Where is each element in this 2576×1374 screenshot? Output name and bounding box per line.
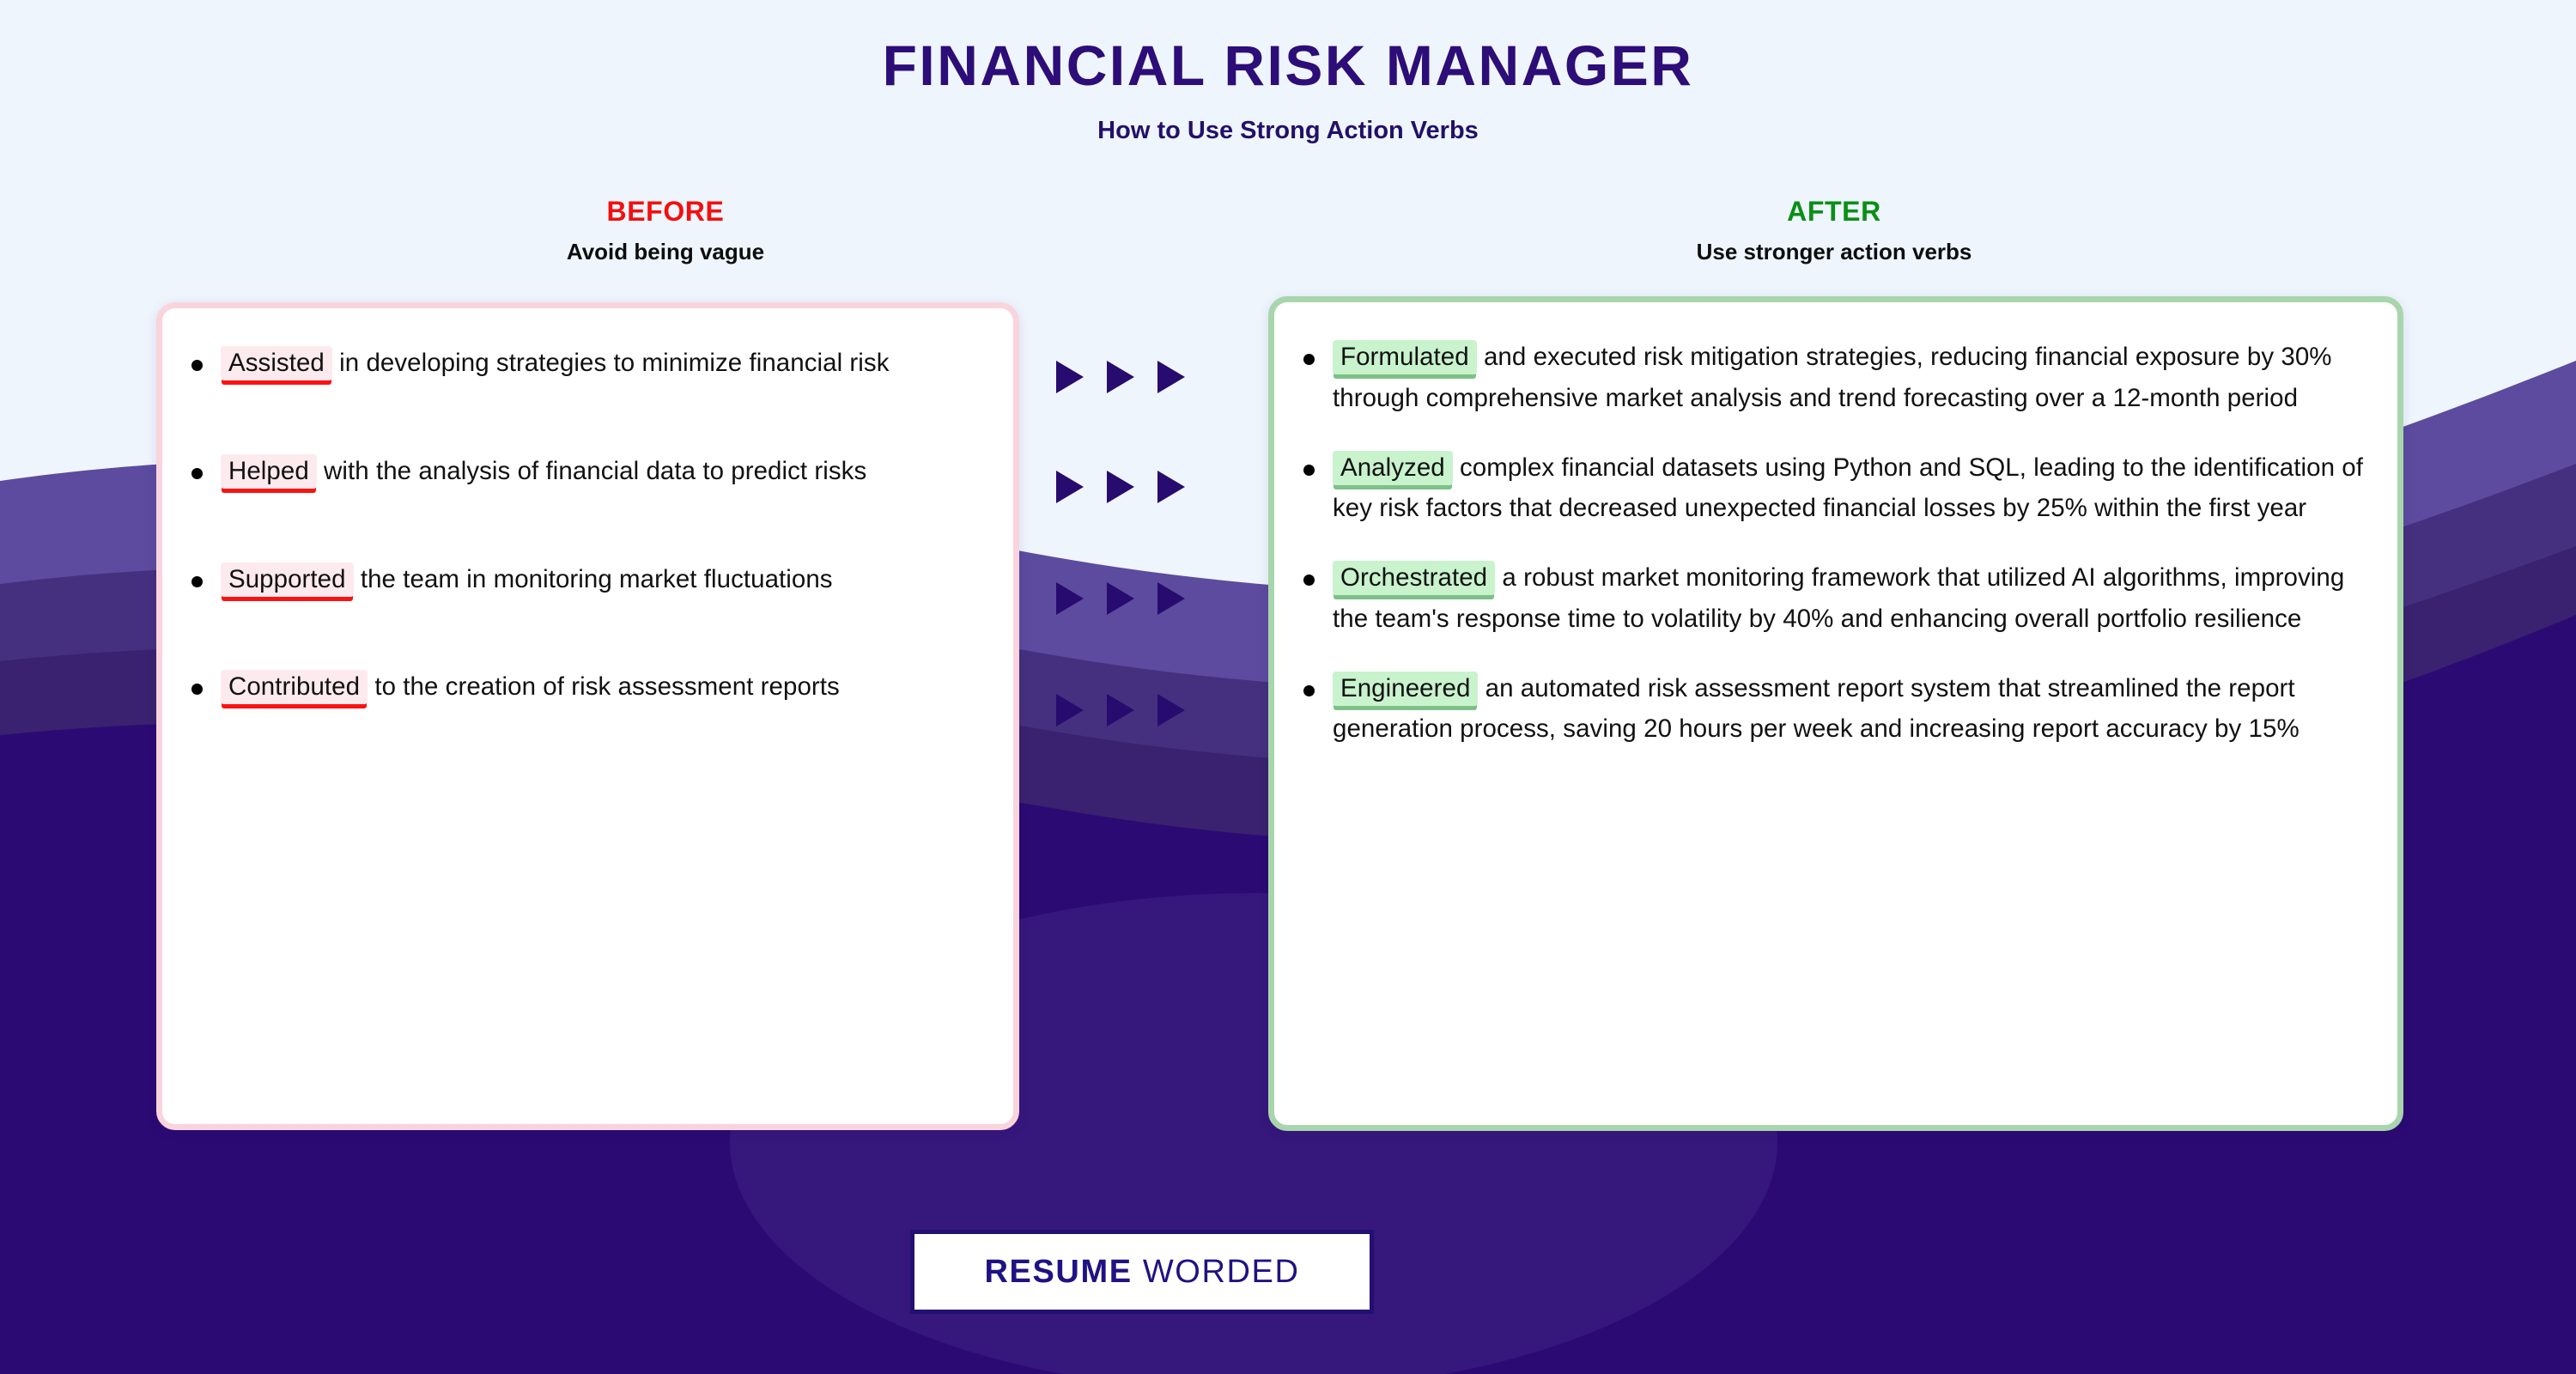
arrow-row (1056, 694, 1185, 727)
after-card: Formulated and executed risk mitigation … (1268, 296, 2403, 1131)
bullet-rest-text: and executed risk mitigation strategies,… (1333, 343, 2332, 412)
bullet-rest-text: to the creation of risk assessment repor… (368, 672, 840, 701)
after-label: AFTER (1267, 196, 2401, 228)
after-sublabel: Use stronger action verbs (1267, 239, 2401, 265)
bullet-dot-icon (191, 576, 203, 587)
action-verb-highlight: Contributed (221, 670, 368, 704)
triangle-right-icon (1157, 694, 1185, 727)
page-subtitle: How to Use Strong Action Verbs (0, 117, 2576, 145)
resume-worded-logo[interactable]: RESUME WORDED (910, 1230, 1374, 1314)
action-verb-highlight: Analyzed (1333, 451, 1453, 485)
bullet-text: Orchestrated a robust market monitoring … (1333, 557, 2368, 640)
bullet-dot-icon (1303, 575, 1315, 586)
bullet-dot-icon (1303, 354, 1315, 365)
arrow-row (1056, 361, 1185, 393)
bullet-dot-icon (191, 468, 203, 479)
after-bullet-list: Formulated and executed risk mitigation … (1274, 302, 2397, 750)
bullet-text: Analyzed complex financial datasets usin… (1333, 447, 2368, 530)
logo-word-resume: RESUME (984, 1254, 1132, 1290)
action-verb-highlight: Supported (221, 562, 354, 597)
triangle-right-icon (1157, 471, 1185, 503)
before-bullet-list: Assisted in developing strategies to min… (162, 308, 1013, 708)
action-verb-highlight: Assisted (221, 346, 332, 380)
arrow-row (1056, 471, 1185, 503)
bullet-dot-icon (1303, 685, 1315, 696)
list-item: Supported the team in monitoring market … (191, 559, 984, 600)
bullet-text: Engineered an automated risk assessment … (1333, 668, 2368, 751)
action-verb-highlight: Orchestrated (1333, 561, 1495, 595)
after-column-heading: AFTER Use stronger action verbs (1267, 196, 2401, 265)
logo-word-worded: WORDED (1143, 1254, 1300, 1290)
bullet-text: Formulated and executed risk mitigation … (1333, 337, 2368, 419)
list-item: Assisted in developing strategies to min… (191, 343, 984, 384)
list-item: Analyzed complex financial datasets usin… (1303, 447, 2368, 530)
triangle-right-icon (1107, 694, 1134, 727)
arrow-row (1056, 582, 1185, 615)
before-sublabel: Avoid being vague (155, 239, 1176, 265)
before-column-heading: BEFORE Avoid being vague (155, 196, 1176, 265)
triangle-right-icon (1107, 582, 1134, 615)
triangle-right-icon (1157, 361, 1185, 393)
list-item: Helped with the analysis of financial da… (191, 451, 984, 492)
bullet-dot-icon (191, 684, 203, 695)
triangle-right-icon (1107, 361, 1134, 393)
bullet-dot-icon (191, 360, 203, 371)
action-verb-highlight: Formulated (1333, 340, 1477, 374)
header: FINANCIAL RISK MANAGER How to Use Strong… (0, 34, 2576, 145)
triangle-right-icon (1056, 694, 1084, 727)
bullet-text: Supported the team in monitoring market … (221, 559, 833, 600)
before-card: Assisted in developing strategies to min… (156, 302, 1019, 1130)
bullet-rest-text: in developing strategies to minimize fin… (332, 349, 890, 377)
bullet-dot-icon (1303, 465, 1315, 476)
triangle-right-icon (1056, 361, 1084, 393)
list-item: Orchestrated a robust market monitoring … (1303, 557, 2368, 640)
bullet-rest-text: the team in monitoring market fluctuatio… (354, 565, 833, 593)
triangle-right-icon (1157, 582, 1185, 615)
action-verb-highlight: Helped (221, 454, 317, 489)
page-title: FINANCIAL RISK MANAGER (0, 34, 2576, 98)
bullet-text: Assisted in developing strategies to min… (221, 343, 890, 384)
triangle-right-icon (1056, 582, 1084, 615)
list-item: Formulated and executed risk mitigation … (1303, 337, 2368, 419)
bullet-rest-text: with the analysis of financial data to p… (317, 457, 867, 485)
bullet-text: Helped with the analysis of financial da… (221, 451, 866, 492)
logo-text: RESUME WORDED (984, 1254, 1299, 1291)
infographic-canvas: FINANCIAL RISK MANAGER How to Use Strong… (0, 0, 2576, 1374)
before-label: BEFORE (155, 196, 1176, 228)
list-item: Engineered an automated risk assessment … (1303, 668, 2368, 751)
triangle-right-icon (1056, 471, 1084, 503)
triangle-right-icon (1107, 471, 1134, 503)
bullet-rest-text: complex financial datasets using Python … (1333, 453, 2363, 523)
action-verb-highlight: Engineered (1333, 672, 1478, 706)
bullet-text: Contributed to the creation of risk asse… (221, 666, 840, 708)
list-item: Contributed to the creation of risk asse… (191, 666, 984, 708)
